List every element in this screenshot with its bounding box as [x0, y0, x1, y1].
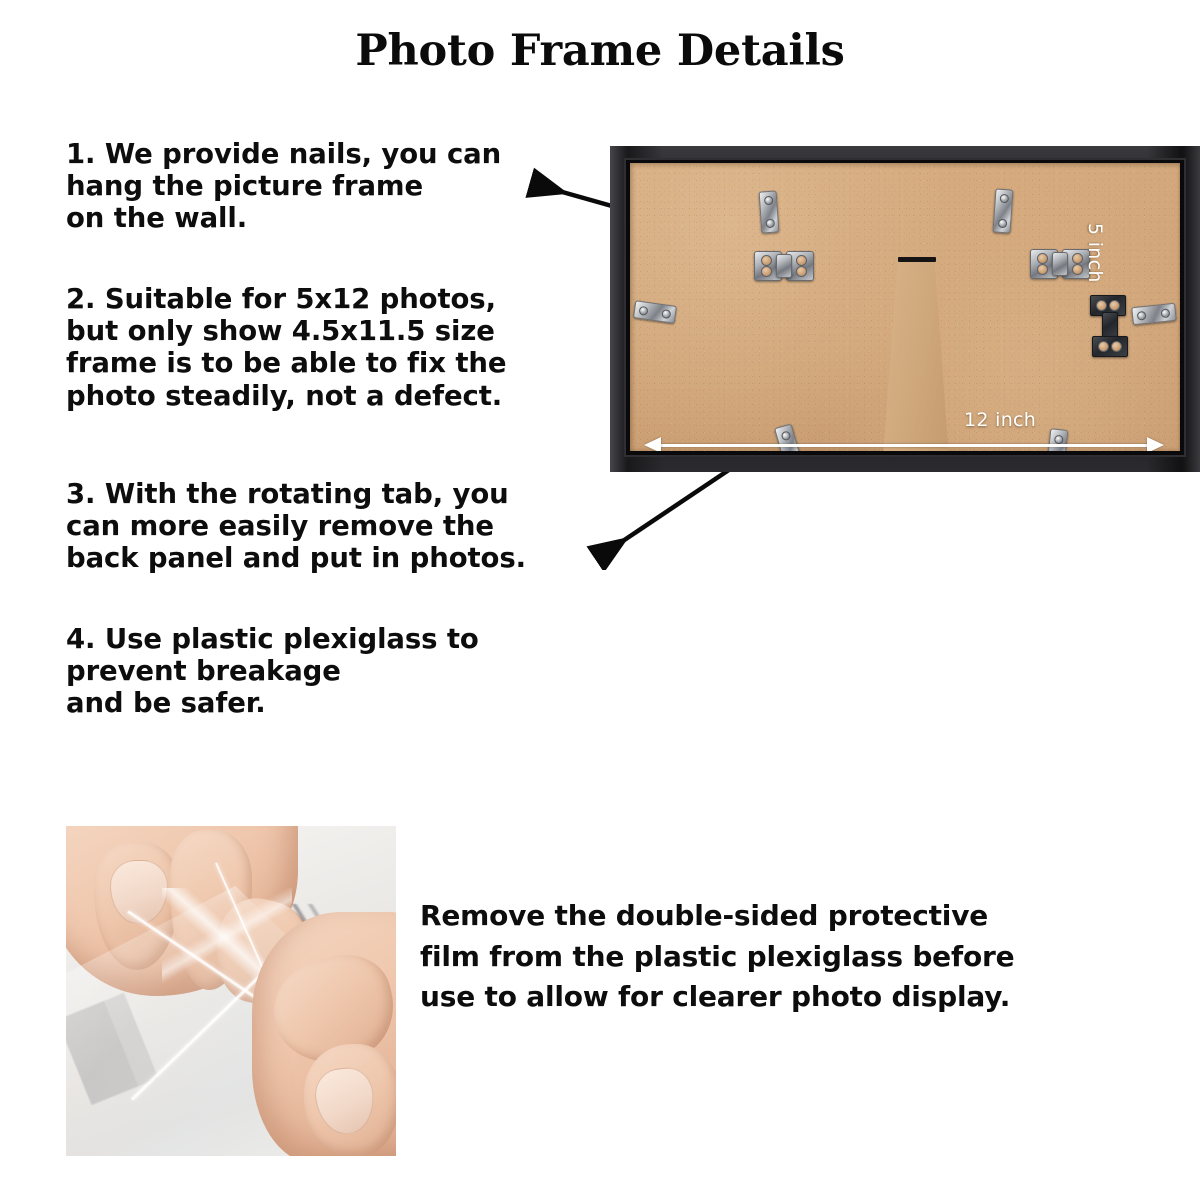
plexiglass-film-photo [66, 826, 396, 1156]
rotating-tab-right [1131, 303, 1177, 326]
rotating-tab-top-left [759, 190, 780, 233]
rotating-tab-bottom-right [1046, 428, 1069, 451]
bottom-caption: Remove the double-sided protective film … [420, 896, 1120, 1018]
width-dimension-line [652, 444, 1158, 447]
width-arrow-head-left [644, 437, 661, 451]
kickstand [882, 259, 950, 451]
page-title: Photo Frame Details [0, 26, 1200, 76]
height-dimension-label: 5 inch [1084, 223, 1106, 283]
rotating-tab-left [633, 300, 677, 324]
width-arrow-head-right [1147, 437, 1164, 451]
feature-item-plexiglass: 4. Use plastic plexiglass to prevent bre… [66, 623, 626, 720]
stand-bracket [1090, 295, 1132, 355]
hanging-hardware-right [1030, 247, 1088, 279]
feature-item-nails: 1. We provide nails, you can hang the pi… [66, 138, 626, 235]
rotating-tab-top-right [992, 188, 1013, 233]
kickstand-slot [898, 257, 936, 262]
hanging-hardware-left [754, 249, 812, 281]
width-dimension-label: 12 inch [964, 409, 1036, 431]
feature-item-photo-size: 2. Suitable for 5x12 photos, but only sh… [66, 283, 626, 412]
backing-board: 12 inch 5 inch [630, 163, 1180, 451]
feature-item-rotating-tab: 3. With the rotating tab, you can more e… [66, 478, 626, 575]
frame-back-photo: 12 inch 5 inch [610, 146, 1200, 472]
